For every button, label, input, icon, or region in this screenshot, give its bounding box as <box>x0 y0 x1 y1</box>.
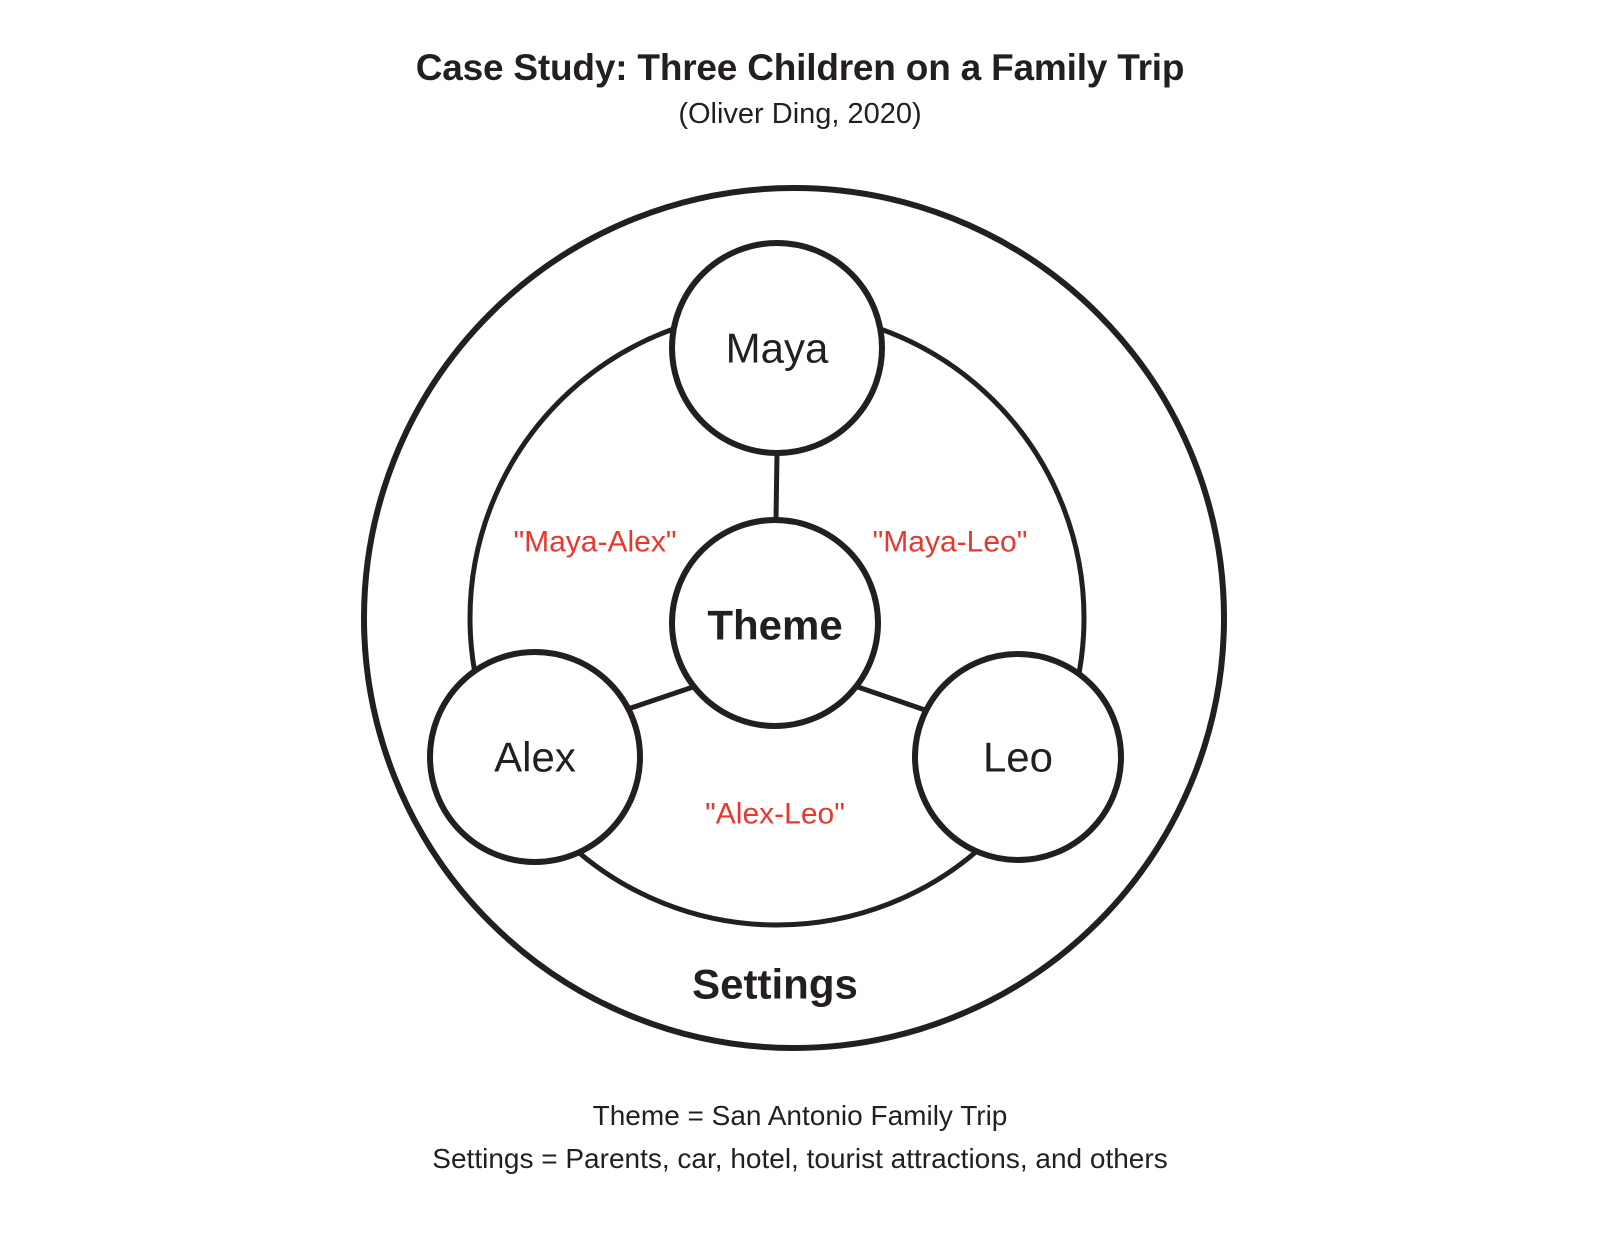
caption-block: Theme = San Antonio Family Trip Settings… <box>0 1094 1600 1181</box>
relation-label-maya-alex: "Maya-Alex" <box>513 526 676 559</box>
node-label-leo: Leo <box>983 734 1053 781</box>
connector-leo-theme <box>855 686 925 710</box>
caption-settings-definition: Settings = Parents, car, hotel, tourist … <box>0 1137 1600 1180</box>
connector-maya-theme <box>776 453 777 520</box>
caption-theme-definition: Theme = San Antonio Family Trip <box>0 1094 1600 1137</box>
connector-alex-theme <box>625 686 696 710</box>
node-label-maya: Maya <box>726 325 829 372</box>
relation-label-alex-leo: "Alex-Leo" <box>705 798 845 831</box>
diagram-canvas: Case Study: Three Children on a Family T… <box>0 0 1600 1258</box>
relationship-diagram: Maya Alex Leo Theme "Maya-Alex" "Maya-Le… <box>0 0 1600 1258</box>
node-label-theme: Theme <box>707 602 842 649</box>
node-label-alex: Alex <box>494 734 576 781</box>
relation-label-maya-leo: "Maya-Leo" <box>873 526 1028 559</box>
settings-ring-label: Settings <box>692 961 858 1008</box>
